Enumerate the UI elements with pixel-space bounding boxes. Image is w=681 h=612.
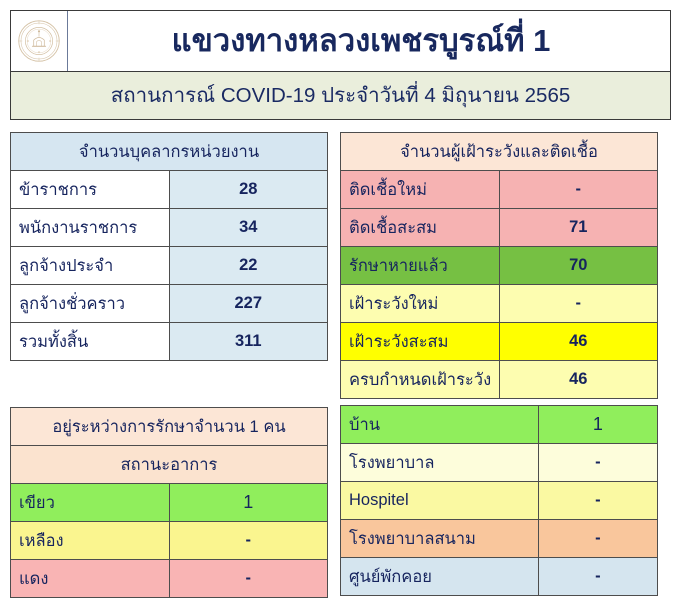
table-row: โรงพยาบาล - (341, 444, 658, 482)
row-value: 71 (499, 209, 658, 247)
row-value: 46 (499, 323, 658, 361)
row-value: 22 (169, 247, 328, 285)
page-title: แขวงทางหลวงเพชรบูรณ์ที่ 1 (172, 25, 551, 58)
row-value: - (169, 560, 328, 598)
table-row: เขียว 1 (11, 484, 328, 522)
row-label: โรงพยาบาลสนาม (341, 520, 539, 558)
table-row: Hospitel - (341, 482, 658, 520)
table-row: รวมทั้งสิ้น 311 (11, 323, 328, 361)
title-cell: แขวงทางหลวงเพชรบูรณ์ที่ 1 (68, 11, 670, 71)
treatment-table-header: อยู่ระหว่างการรักษาจำนวน 1 คน (11, 408, 328, 446)
personnel-table-header: จำนวนบุคลากรหน่วยงาน (11, 133, 328, 171)
row-label: ข้าราชการ (11, 171, 170, 209)
row-value: 227 (169, 285, 328, 323)
row-value: 34 (169, 209, 328, 247)
row-value: - (538, 558, 657, 596)
table-row: บ้าน 1 (341, 406, 658, 444)
row-label: ลูกจ้างประจำ (11, 247, 170, 285)
table-row: เฝ้าระวังใหม่ - (341, 285, 658, 323)
table-row: โรงพยาบาลสนาม - (341, 520, 658, 558)
treatment-status-table: อยู่ระหว่างการรักษาจำนวน 1 คน สถานะอาการ… (10, 407, 328, 598)
right-column: จำนวนผู้เฝ้าระวังและติดเชื้อ ติดเชื้อใหม… (340, 132, 658, 598)
row-value: - (538, 520, 657, 558)
left-column: จำนวนบุคลากรหน่วยงาน ข้าราชการ 28 พนักงา… (10, 132, 328, 598)
row-value: - (538, 482, 657, 520)
title-row: แขวงทางหลวงเพชรบูรณ์ที่ 1 (11, 11, 670, 71)
row-value: - (499, 285, 658, 323)
row-label: ติดเชื้อสะสม (341, 209, 500, 247)
row-label: เขียว (11, 484, 170, 522)
row-label: เฝ้าระวังใหม่ (341, 285, 500, 323)
table-header-row: อยู่ระหว่างการรักษาจำนวน 1 คน (11, 408, 328, 446)
table-row: ลูกจ้างประจำ 22 (11, 247, 328, 285)
row-label: แดง (11, 560, 170, 598)
row-value: - (538, 444, 657, 482)
row-label: รักษาหายแล้ว (341, 247, 500, 285)
column-spacer (10, 361, 328, 407)
subtitle-row: สถานการณ์ COVID-19 ประจำวันที่ 4 มิถุนาย… (11, 71, 670, 119)
table-row: ติดเชื้อใหม่ - (341, 171, 658, 209)
department-of-highways-seal-icon (17, 19, 61, 63)
table-row: ศูนย์พักคอย - (341, 558, 658, 596)
table-subheader-row: สถานะอาการ (11, 446, 328, 484)
location-table: บ้าน 1 โรงพยาบาล - Hospitel - โรงพยาบาลส… (340, 405, 658, 596)
row-value: 1 (169, 484, 328, 522)
row-label: Hospitel (341, 482, 539, 520)
table-row: พนักงานราชการ 34 (11, 209, 328, 247)
row-value: 70 (499, 247, 658, 285)
row-label: โรงพยาบาล (341, 444, 539, 482)
row-label: ติดเชื้อใหม่ (341, 171, 500, 209)
table-row: รักษาหายแล้ว 70 (341, 247, 658, 285)
row-label: เหลือง (11, 522, 170, 560)
table-row: ครบกำหนดเฝ้าระวัง 46 (341, 361, 658, 399)
row-label: รวมทั้งสิ้น (11, 323, 170, 361)
table-row: แดง - (11, 560, 328, 598)
table-row: เฝ้าระวังสะสม 46 (341, 323, 658, 361)
table-row: ข้าราชการ 28 (11, 171, 328, 209)
table-row: ติดเชื้อสะสม 71 (341, 209, 658, 247)
surveillance-table: จำนวนผู้เฝ้าระวังและติดเชื้อ ติดเชื้อใหม… (340, 132, 658, 399)
row-label: ศูนย์พักคอย (341, 558, 539, 596)
table-row: เหลือง - (11, 522, 328, 560)
row-value: - (169, 522, 328, 560)
covid-status-dashboard: แขวงทางหลวงเพชรบูรณ์ที่ 1 สถานการณ์ COVI… (0, 0, 681, 612)
row-label: ครบกำหนดเฝ้าระวัง (341, 361, 500, 399)
row-value: 1 (538, 406, 657, 444)
treatment-table-subheader: สถานะอาการ (11, 446, 328, 484)
row-label: เฝ้าระวังสะสม (341, 323, 500, 361)
row-value: 28 (169, 171, 328, 209)
personnel-table: จำนวนบุคลากรหน่วยงาน ข้าราชการ 28 พนักงา… (10, 132, 328, 361)
tables-zone: จำนวนบุคลากรหน่วยงาน ข้าราชการ 28 พนักงา… (10, 132, 671, 598)
row-value: 46 (499, 361, 658, 399)
row-value: 311 (169, 323, 328, 361)
row-label: ลูกจ้างชั่วคราว (11, 285, 170, 323)
row-value: - (499, 171, 658, 209)
row-label: พนักงานราชการ (11, 209, 170, 247)
logo-cell (11, 11, 68, 71)
table-row: ลูกจ้างชั่วคราว 227 (11, 285, 328, 323)
table-header-row: จำนวนผู้เฝ้าระวังและติดเชื้อ (341, 133, 658, 171)
row-label: บ้าน (341, 406, 539, 444)
page-subtitle: สถานการณ์ COVID-19 ประจำวันที่ 4 มิถุนาย… (111, 79, 571, 112)
surveillance-table-header: จำนวนผู้เฝ้าระวังและติดเชื้อ (341, 133, 658, 171)
table-header-row: จำนวนบุคลากรหน่วยงาน (11, 133, 328, 171)
header-block: แขวงทางหลวงเพชรบูรณ์ที่ 1 สถานการณ์ COVI… (10, 10, 671, 120)
